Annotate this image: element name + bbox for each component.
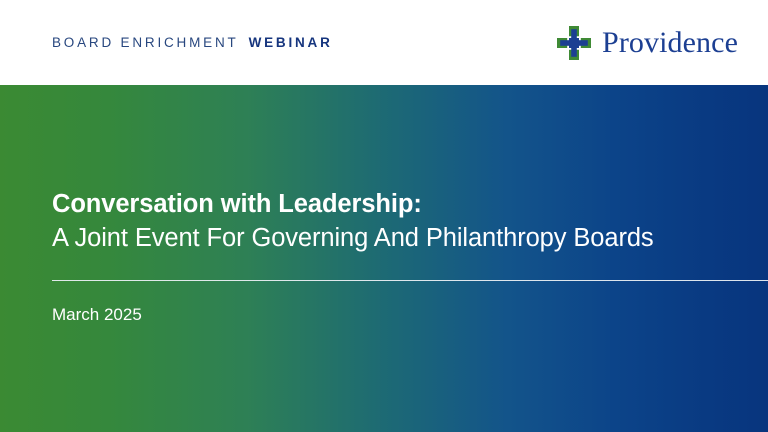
slide-date: March 2025 (52, 305, 142, 325)
providence-logo: Providence (557, 26, 738, 60)
title-divider-rule (52, 280, 768, 281)
page-title: Conversation with Leadership: A Joint Ev… (52, 188, 768, 255)
providence-wordmark: Providence (602, 28, 738, 58)
eyebrow-series-text: BOARD ENRICHMENT (52, 36, 239, 50)
slide-background-gradient (0, 85, 768, 432)
title-secondary: A Joint Event For Governing And Philanth… (52, 222, 768, 256)
title-slide: BOARD ENRICHMENT WEBINAR Providence (0, 0, 768, 432)
title-primary: Conversation with Leadership: (52, 188, 768, 222)
eyebrow-format-text: WEBINAR (249, 36, 333, 50)
slide-header-bar: BOARD ENRICHMENT WEBINAR Providence (0, 0, 768, 85)
providence-cross-icon (557, 26, 591, 60)
eyebrow-label: BOARD ENRICHMENT WEBINAR (52, 36, 333, 50)
